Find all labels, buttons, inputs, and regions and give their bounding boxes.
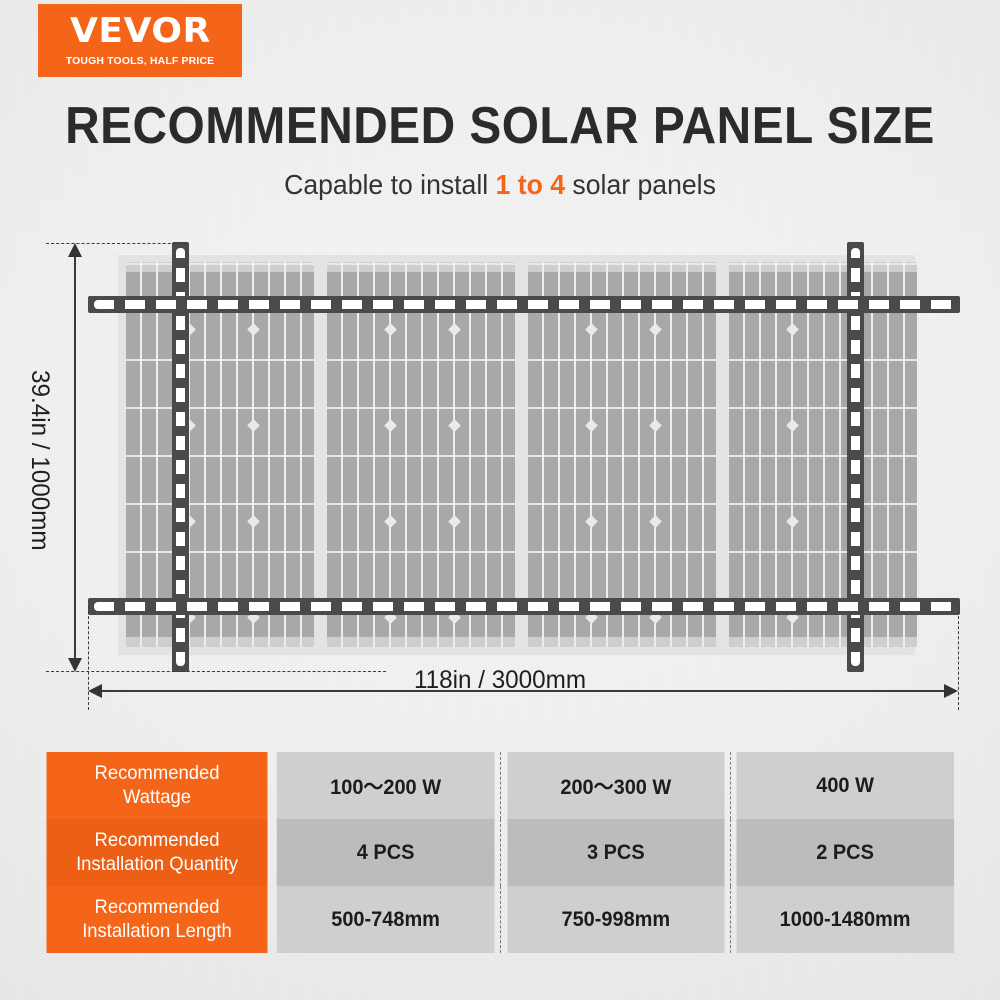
cell-wattage-3: 400 W — [736, 752, 954, 819]
cell-junction-diamond — [649, 611, 662, 624]
cell-junction-diamond — [649, 419, 662, 432]
page-subtitle: Capable to install 1 to 4 solar panels — [25, 168, 975, 202]
rail-slot-holes — [94, 602, 954, 611]
cell-junction-diamond — [183, 611, 196, 624]
subtitle-highlight: 1 to 4 — [496, 169, 565, 200]
row-label-line2: Installation Length — [46, 920, 267, 943]
cell-quantity-2: 3 PCS — [506, 819, 724, 886]
panel-bottom-edge — [327, 637, 515, 647]
row-label-line2: Installation Quantity — [46, 853, 267, 876]
solar-panel-3 — [528, 262, 716, 647]
cell-junction-diamond — [850, 419, 863, 432]
width-dimension-line — [94, 690, 954, 692]
solar-panel-2 — [327, 262, 515, 647]
cell-quantity-3: 2 PCS — [736, 819, 954, 886]
cell-junction-diamond — [786, 611, 799, 624]
cell-junction-diamond — [384, 611, 397, 624]
cell-junction-diamond — [585, 515, 598, 528]
panel-cell-columns — [528, 262, 716, 647]
horizontal-mounting-rail-bottom — [88, 598, 960, 615]
panel-cell-rows — [528, 262, 716, 647]
solar-panel-1 — [126, 262, 314, 647]
cell-junction-diamond — [448, 611, 461, 624]
row-label-line1: Recommended — [46, 896, 267, 919]
panel-cell-columns — [126, 262, 314, 647]
vevor-logo: VEVOR TOUGH TOOLS, HALF PRICE — [38, 4, 242, 77]
row-label-line2: Wattage — [46, 786, 267, 809]
width-arrow-right — [944, 684, 958, 698]
cell-length-2: 750-998mm — [506, 886, 724, 953]
cell-junction-diamond — [448, 515, 461, 528]
brand-tagline: TOUGH TOOLS, HALF PRICE — [66, 55, 215, 67]
panel-top-edge — [729, 262, 917, 272]
cell-junction-diamond — [585, 419, 598, 432]
table-row: Recommended Wattage 100～200 W 200～300 W … — [43, 752, 960, 819]
page-title: RECOMMENDED SOLAR PANEL SIZE — [40, 100, 960, 152]
cell-junction-diamond — [183, 419, 196, 432]
cell-junction-diamond — [786, 419, 799, 432]
rail-slot-holes — [851, 248, 860, 666]
height-dimension-line — [74, 248, 76, 666]
panel-cell-columns — [729, 262, 917, 647]
cell-junction-diamond — [247, 611, 260, 624]
row-label-line1: Recommended — [46, 829, 267, 852]
panel-cell-rows — [126, 262, 314, 647]
cell-wattage-2: 200～300 W — [506, 752, 724, 819]
panel-bottom-edge — [126, 637, 314, 647]
rail-slot-holes — [94, 300, 954, 309]
cell-junction-diamond — [384, 323, 397, 336]
table-row: Recommended Installation Quantity 4 PCS … — [43, 819, 960, 886]
width-dimension-label: 118in / 3000mm — [15, 666, 985, 695]
cell-junction-diamond — [850, 323, 863, 336]
brand-wordmark: VEVOR — [70, 14, 211, 48]
subtitle-text-before: Capable to install — [284, 169, 495, 200]
rail-slot-holes — [176, 248, 185, 666]
panel-backing-plate — [118, 255, 915, 655]
cell-junction-diamond — [384, 515, 397, 528]
cell-junction-diamond — [247, 419, 260, 432]
cell-junction-diamond — [183, 515, 196, 528]
cell-wattage-1: 100～200 W — [277, 752, 495, 819]
panel-top-edge — [528, 262, 716, 272]
vertical-mounting-rail-left — [172, 242, 189, 672]
panel-cell-rows — [327, 262, 515, 647]
cell-junction-diamond — [786, 323, 799, 336]
table-row: Recommended Installation Length 500-748m… — [43, 886, 960, 953]
cell-junction-diamond — [585, 323, 598, 336]
cell-junction-diamond — [247, 323, 260, 336]
height-extension-line-bottom — [46, 671, 386, 672]
height-dimension-label: 39.4in / 1000mm — [25, 370, 54, 393]
row-label-quantity: Recommended Installation Quantity — [46, 819, 267, 886]
cell-length-3: 1000-1480mm — [736, 886, 954, 953]
height-arrow-bottom — [68, 658, 82, 672]
vertical-mounting-rail-right — [847, 242, 864, 672]
panel-cell-columns — [327, 262, 515, 647]
panel-top-edge — [327, 262, 515, 272]
recommendation-table: Recommended Wattage 100～200 W 200～300 W … — [43, 752, 960, 953]
cell-junction-diamond — [649, 323, 662, 336]
width-extension-line-right — [958, 606, 959, 710]
cell-junction-diamond — [585, 611, 598, 624]
cell-junction-diamond — [649, 515, 662, 528]
width-arrow-left — [88, 684, 102, 698]
subtitle-text-after: solar panels — [565, 169, 716, 200]
panel-top-edge — [126, 262, 314, 272]
row-label-line1: Recommended — [46, 762, 267, 785]
cell-junction-diamond — [448, 419, 461, 432]
cell-junction-diamond — [786, 515, 799, 528]
cell-junction-diamond — [247, 515, 260, 528]
horizontal-mounting-rail-top — [88, 296, 960, 313]
cell-junction-diamond — [183, 323, 196, 336]
width-extension-line-left — [88, 606, 89, 710]
solar-panel-4 — [729, 262, 917, 647]
row-label-wattage: Recommended Wattage — [46, 752, 267, 819]
panel-bottom-edge — [528, 637, 716, 647]
height-arrow-top — [68, 243, 82, 257]
panel-cell-rows — [729, 262, 917, 647]
cell-junction-diamond — [850, 515, 863, 528]
cell-junction-diamond — [850, 611, 863, 624]
height-extension-line-top — [46, 243, 186, 244]
cell-length-1: 500-748mm — [277, 886, 495, 953]
infographic-page: VEVOR TOUGH TOOLS, HALF PRICE RECOMMENDE… — [0, 0, 1000, 1000]
cell-quantity-1: 4 PCS — [277, 819, 495, 886]
row-label-length: Recommended Installation Length — [46, 886, 267, 953]
cell-junction-diamond — [384, 419, 397, 432]
panel-bottom-edge — [729, 637, 917, 647]
cell-junction-diamond — [448, 323, 461, 336]
